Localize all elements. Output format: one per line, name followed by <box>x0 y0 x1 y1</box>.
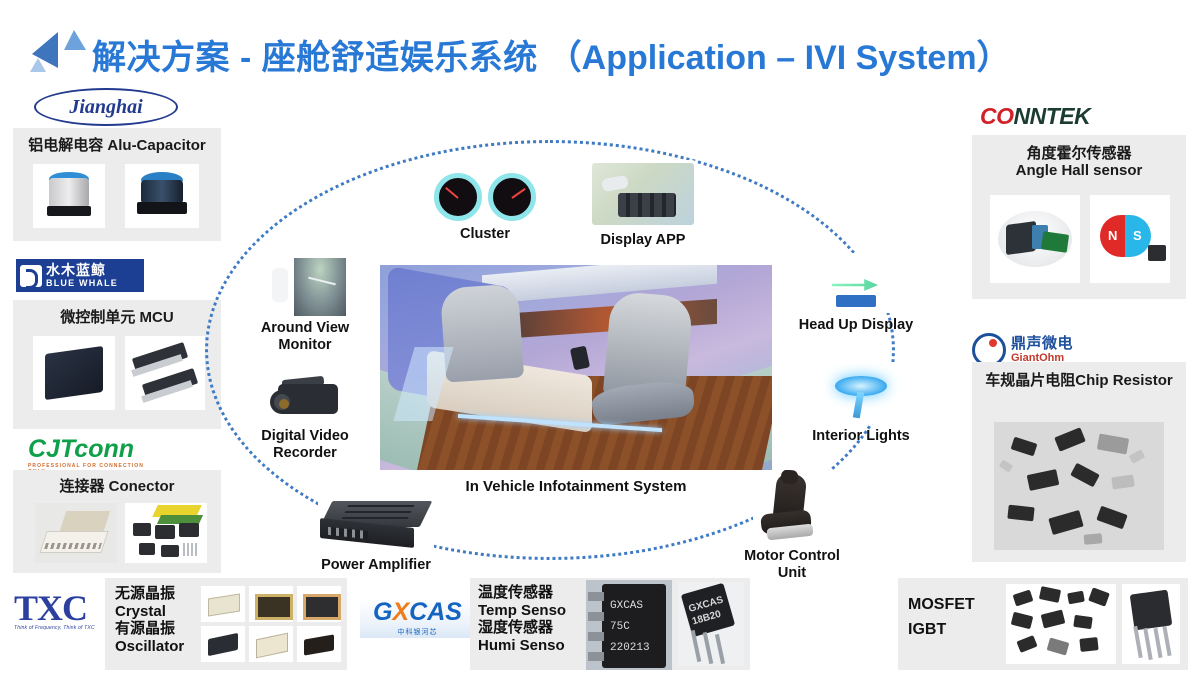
thumb-oscillator-3 <box>297 626 341 662</box>
dashcam-device-icon <box>264 376 346 424</box>
panel-crystal-oscillator: 无源晶振 Crystal 有源晶振 Oscillator <box>105 578 347 670</box>
thumb-mcu-tssop <box>125 336 205 410</box>
label-crystal-cn: 无源晶振 <box>115 585 193 603</box>
label-oscillator-cn: 有源晶振 <box>115 620 193 638</box>
brand-logo-jianghai-text: Jianghai <box>69 96 142 119</box>
brand-logo-blue-whale: 水木蓝鲸 BLUE WHALE <box>16 259 144 292</box>
panel-title-angle-hall-cn: 角度霍尔传感器 <box>972 135 1186 162</box>
label-humi-sensor-cn: 湿度传感器 <box>478 619 588 637</box>
node-label-around-view-monitor: Around View Monitor <box>245 320 365 353</box>
thumb-alu-capacitor-2 <box>125 164 199 228</box>
chip-marking-1: GXCAS 75C 220213 <box>610 596 650 659</box>
node-cluster[interactable]: Cluster <box>430 172 540 243</box>
slide-root: 解决方案 - 座舱舒适娱乐系统 （Application – IVI Syste… <box>0 0 1200 674</box>
power-seat-icon <box>753 470 831 544</box>
thumb-chip-resistors <box>994 422 1164 550</box>
thumb-mcu-bga <box>33 336 115 410</box>
page-title-en: （Application – IVI System） <box>548 39 1011 77</box>
panel-mosfet-igbt: MOSFET IGBT <box>898 578 1188 670</box>
center-touchscreen-display-icon <box>589 160 697 228</box>
thumb-igbt-to247 <box>1122 584 1180 664</box>
thumb-sensor-chip-1: GXCAS 75C 220213 <box>586 580 672 670</box>
label-mosfet: MOSFET <box>908 596 998 615</box>
node-label-motor-control-unit: Motor Control Unit <box>728 548 856 581</box>
brand-logo-blue-whale-cn: 水木蓝鲸 <box>46 263 118 277</box>
label-temp-sensor-cn: 温度传感器 <box>478 584 588 602</box>
label-crystal-en: Crystal <box>115 603 193 621</box>
panel-mcu: 微控制单元 MCU <box>13 300 221 429</box>
thumb-oscillator-1 <box>201 626 245 662</box>
thumb-connector-housings <box>125 503 207 563</box>
thumb-oscillator-2 <box>249 626 293 662</box>
hero-car-interior-image <box>380 265 772 470</box>
hud-projection-road-icon <box>810 253 902 313</box>
node-head-up-display[interactable]: Head Up Display <box>790 253 922 334</box>
brand-logo-conntek-dark: NNTEK <box>1014 103 1091 129</box>
node-power-amplifier[interactable]: Power Amplifier <box>315 493 437 574</box>
node-interior-lights[interactable]: Interior Lights <box>805 362 917 445</box>
brand-logo-conntek-red: CO <box>980 103 1014 129</box>
thumb-crystal-1 <box>201 586 245 622</box>
page-title: 解决方案 - 座舱舒适娱乐系统 （Application – IVI Syste… <box>92 30 1011 79</box>
triangle-arrow-logo-icon <box>28 28 90 72</box>
node-around-view-monitor[interactable]: Around View Monitor <box>245 258 365 353</box>
panel-chip-resistor: 车规晶片电阻Chip Resistor <box>972 362 1186 562</box>
thumb-hall-sensor-module <box>990 195 1080 283</box>
node-display-app[interactable]: Display APP <box>588 160 698 249</box>
panel-title-connector: 连接器 Conector <box>13 470 221 495</box>
page-title-cn: 解决方案 - 座舱舒适娱乐系统 <box>92 39 538 77</box>
brand-logo-blue-whale-en: BLUE WHALE <box>46 279 118 288</box>
panel-temp-humi-sensor: 温度传感器 Temp Senso 湿度传感器 Humi Senso GXCAS … <box>470 578 750 670</box>
brand-logo-cjtconn: CJTconn PROFESSIONAL FOR CONNECTION ONLY <box>28 437 158 469</box>
label-igbt: IGBT <box>908 621 998 640</box>
brand-logo-gxcas: GXCAS 中科银河芯 <box>360 598 475 638</box>
label-temp-sensor-en: Temp Senso <box>478 602 588 620</box>
brand-logo-giantohm-cn: 鼎声微电 <box>1011 336 1073 351</box>
panel-title-alu-capacitor: 铝电解电容 Alu-Capacitor <box>13 128 221 154</box>
audio-amplifier-box-icon <box>318 493 434 553</box>
node-label-digital-video-recorder: Digital Video Recorder <box>250 428 360 461</box>
brand-logo-cjtconn-text: CJTconn <box>28 437 158 462</box>
thumb-crystal-3 <box>297 586 341 622</box>
node-label-head-up-display: Head Up Display <box>790 317 922 334</box>
panel-title-mcu: 微控制单元 MCU <box>13 300 221 326</box>
node-label-cluster: Cluster <box>430 226 540 243</box>
node-label-power-amplifier: Power Amplifier <box>315 557 437 574</box>
panel-connector: 连接器 Conector <box>13 470 221 573</box>
panel-title-chip-resistor: 车规晶片电阻Chip Resistor <box>972 362 1186 389</box>
panel-alu-capacitor: 铝电解电容 Alu-Capacitor <box>13 128 221 241</box>
brand-logo-conntek: CONNTEK <box>980 105 1100 131</box>
panel-title-angle-hall-en: Angle Hall sensor <box>972 162 1186 179</box>
thumb-mosfet-group <box>1006 584 1116 664</box>
hero-caption: In Vehicle Infotainment System <box>380 478 772 495</box>
panel-angle-hall-sensor: 角度霍尔传感器 Angle Hall sensor N S <box>972 135 1186 299</box>
brand-logo-gxcas-text: GXCAS <box>373 600 462 625</box>
instrument-cluster-gauges-icon <box>433 172 537 222</box>
thumb-connector-wire-to-board <box>35 503 117 563</box>
thumb-magnet-ns-diagram: N S <box>1090 195 1170 283</box>
label-oscillator-en: Oscillator <box>115 638 193 656</box>
node-label-display-app: Display APP <box>588 232 698 249</box>
around-view-camera-image-icon <box>264 258 346 316</box>
brand-logo-gxcas-sub: 中科银河芯 <box>398 627 438 637</box>
label-humi-sensor-en: Humi Senso <box>478 637 588 655</box>
whale-mark-icon <box>20 265 42 287</box>
brand-logo-jianghai: Jianghai <box>34 88 178 126</box>
blue-ambient-lamp-icon <box>821 362 901 424</box>
thumb-sensor-chip-2: GXCAS 18B20 <box>678 582 744 666</box>
slide-header: 解决方案 - 座舱舒适娱乐系统 （Application – IVI Syste… <box>0 10 1200 78</box>
node-digital-video-recorder[interactable]: Digital Video Recorder <box>250 376 360 461</box>
thumb-alu-capacitor-1 <box>33 164 105 228</box>
node-motor-control-unit[interactable]: Motor Control Unit <box>728 470 856 581</box>
node-label-interior-lights: Interior Lights <box>805 428 917 445</box>
thumb-crystal-2 <box>249 586 293 622</box>
